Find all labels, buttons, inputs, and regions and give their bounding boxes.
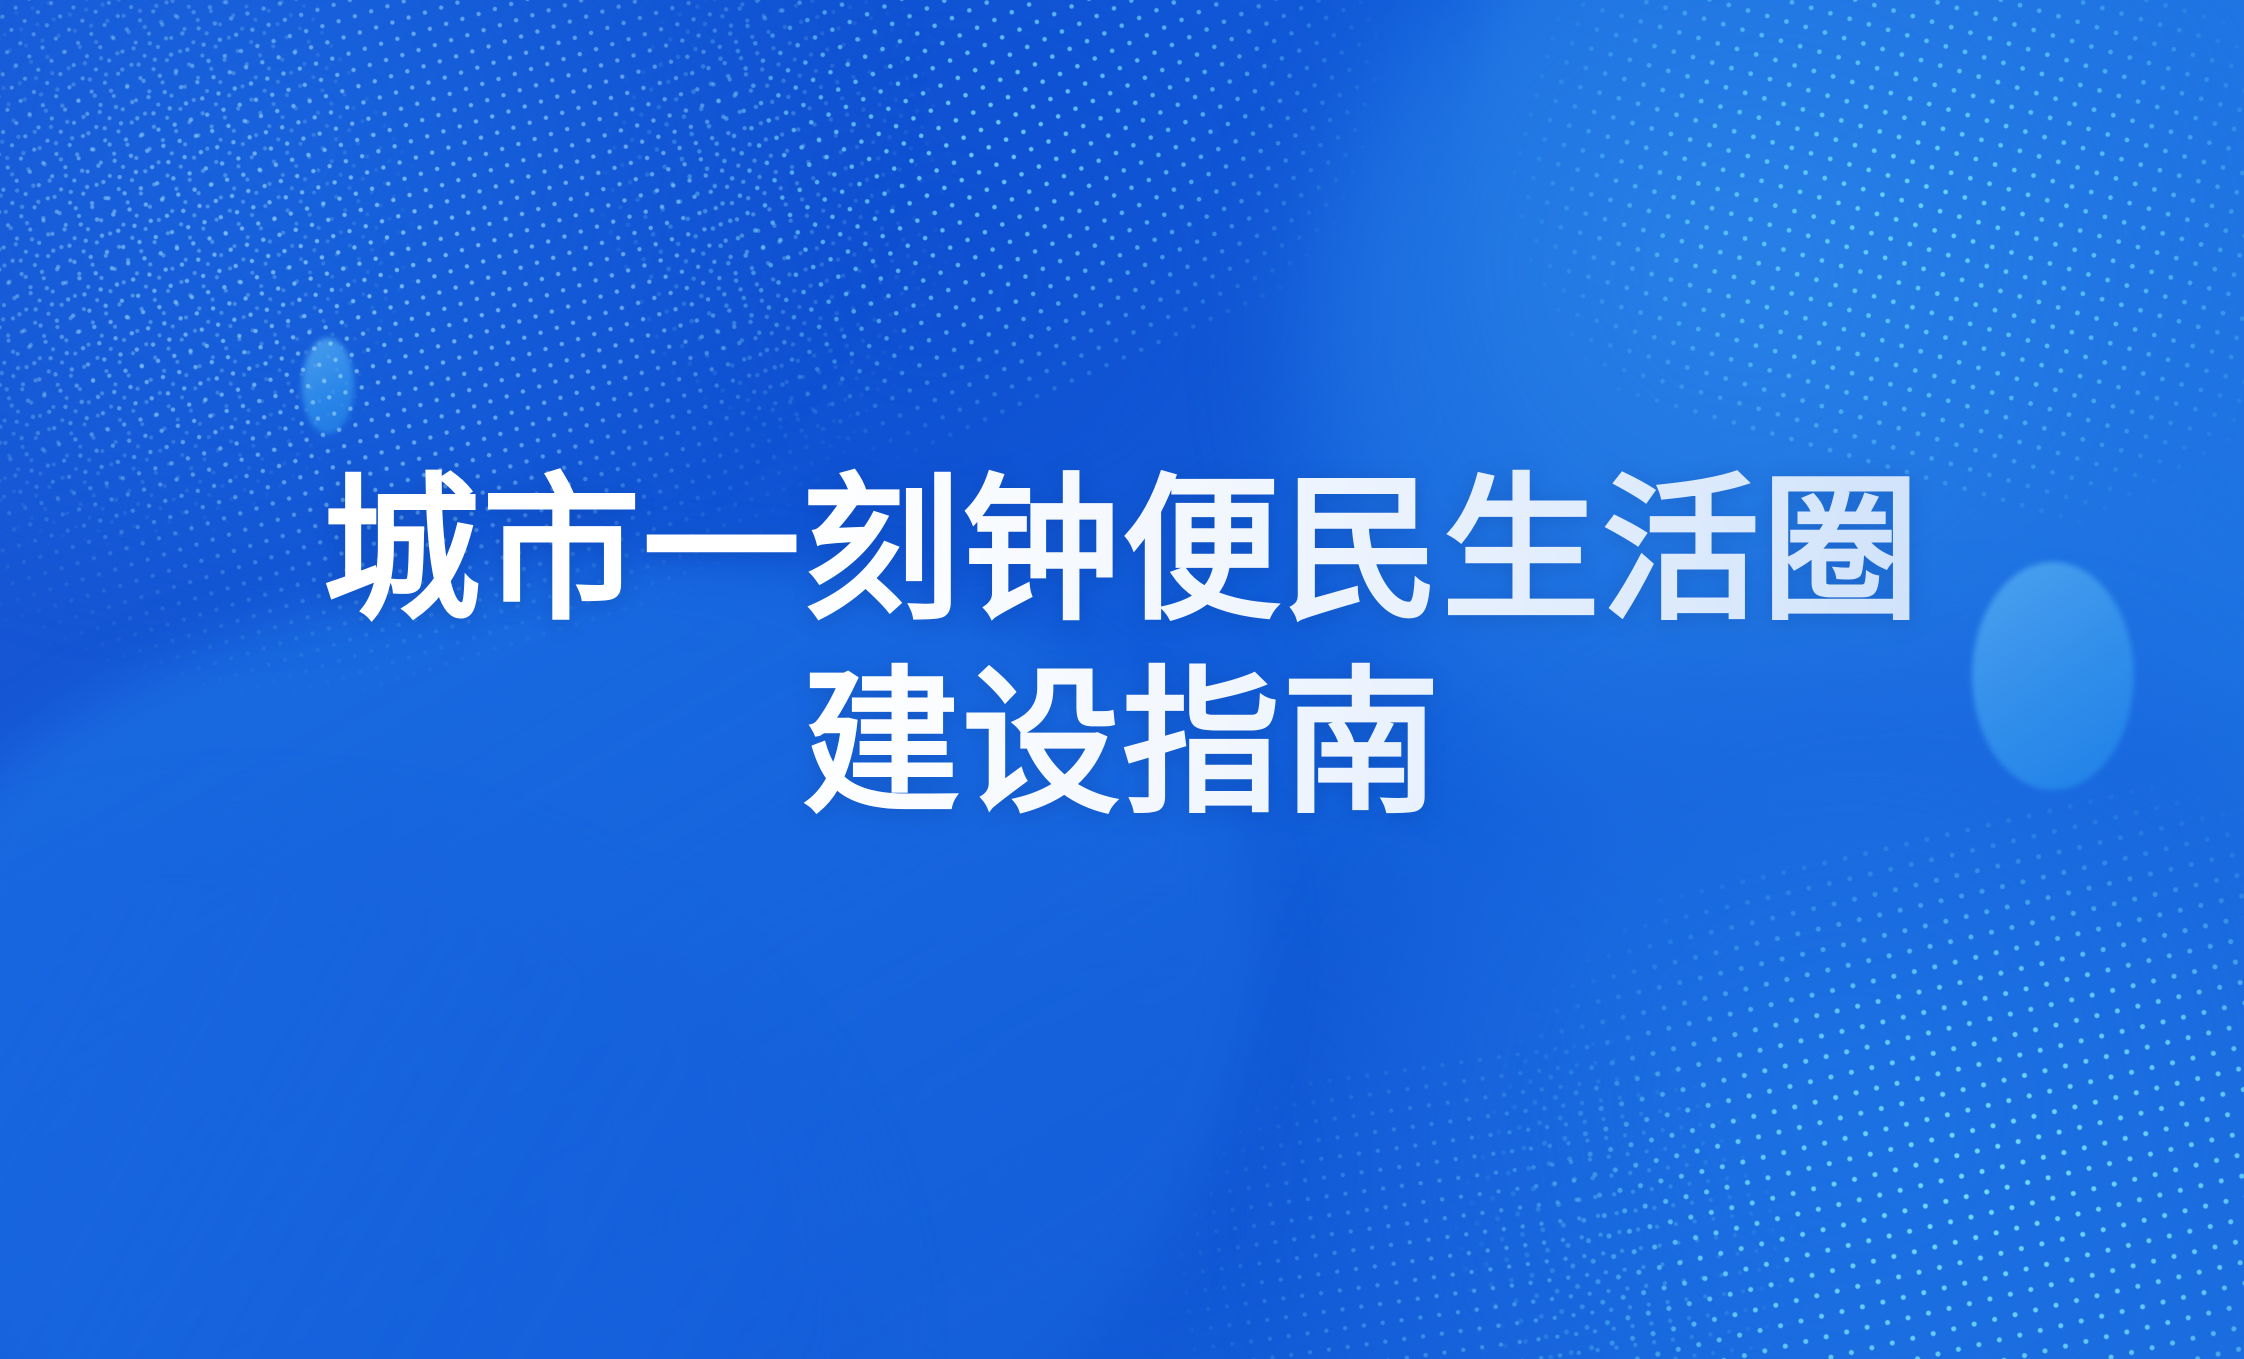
halftone-dots-bottom-middle [1018, 1009, 1862, 1359]
title-line-1: 城市一刻钟便民生活圈 [0, 455, 2244, 648]
title-line-2: 建设指南 [0, 648, 2244, 841]
blob-bottom-left [0, 819, 880, 1359]
poster-title: 城市一刻钟便民生活圈 建设指南 [0, 455, 2244, 841]
poster-canvas: 城市一刻钟便民生活圈 建设指南 [0, 0, 2244, 1359]
